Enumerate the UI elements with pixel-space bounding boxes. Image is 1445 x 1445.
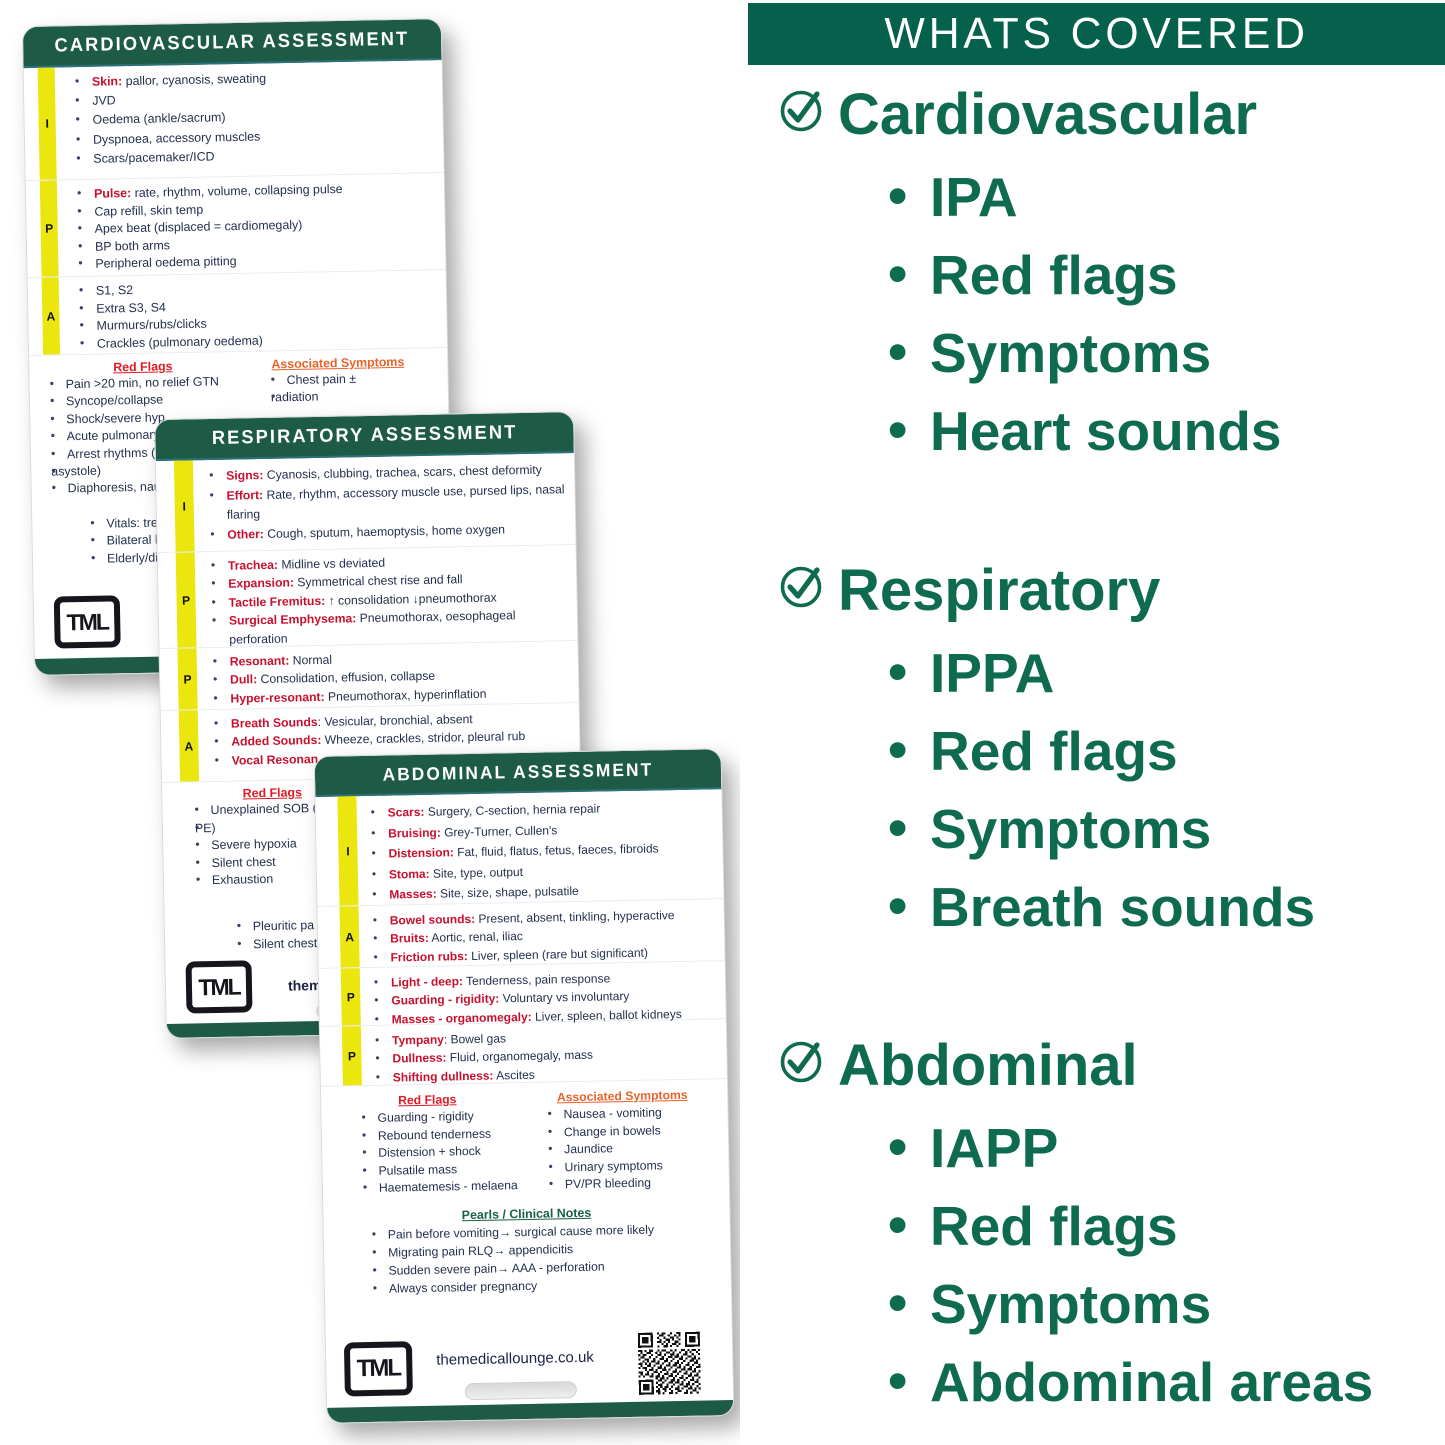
section-row-i: I Skin: pallor, cyanosis, sweating JVD O… — [24, 60, 444, 181]
whats-covered-title: WHATS COVERED — [884, 9, 1308, 59]
list-resp-p1: Trachea: Midline vs deviated Expansion: … — [211, 550, 568, 649]
section-row-p1: P Trachea: Midline vs deviated Expansion… — [158, 545, 578, 649]
group-abdominal-list: IAPP Red flags Symptoms Abdominal areas — [760, 1109, 1445, 1421]
list-item-cont: radiation — [271, 387, 426, 407]
ippa-letter-i: I — [337, 796, 358, 905]
cv-associated-list: Chest pain ± radiation — [250, 369, 426, 407]
list-item: Haematemesis - melaena — [363, 1177, 529, 1198]
section-row-a: A S1, S2 Extra S3, S4 Murmurs/rubs/click… — [28, 270, 447, 356]
cardiovascular-title: CARDIOVASCULAR ASSESSMENT — [55, 29, 410, 58]
group-cardiovascular: Cardiovascular IPA Red flags Symptoms He… — [760, 86, 1445, 470]
abdominal-body: I Scars: Surgery, C-section, hernia repa… — [315, 789, 733, 1423]
ippa-letter-a: A — [42, 277, 60, 354]
list-resp-p2: Resonant: Normal Dull: Consolidation, ef… — [213, 646, 569, 708]
list-item: IPPA — [760, 634, 1445, 712]
list-cv-a: S1, S2 Extra S3, S4 Murmurs/rubs/clicks … — [79, 276, 439, 353]
group-respiratory-label: Respiratory — [838, 562, 1160, 620]
whats-covered-header: WHATS COVERED — [748, 3, 1445, 65]
abdominal-title: ABDOMINAL ASSESSMENT — [382, 759, 653, 785]
group-respiratory-list: IPPA Red flags Symptoms Breath sounds — [760, 634, 1445, 946]
group-abdominal-title-row: Abdominal — [760, 1037, 1445, 1095]
ippa-letter-i: I — [174, 460, 195, 551]
lanyard-slot — [465, 1381, 577, 1400]
group-respiratory: Respiratory IPPA Red flags Symptoms Brea… — [760, 562, 1445, 946]
list-abd-i: Scars: Surgery, C-section, hernia repair… — [371, 796, 716, 906]
list-item: Surgical Emphysema: Pneumothorax, oesoph… — [212, 605, 568, 649]
list-item: Red flags — [760, 712, 1445, 790]
list-item: Effort: Rate, rhythm, accessory muscle u… — [209, 480, 565, 526]
list-item: Red flags — [760, 1187, 1445, 1265]
abd-site-text: themedicallounge.co.uk — [436, 1349, 594, 1369]
list-item: Breath sounds — [760, 868, 1445, 946]
list-item: Red flags — [760, 236, 1445, 314]
list-item: IAPP — [760, 1109, 1445, 1187]
list-item: Abdominal areas — [760, 1343, 1445, 1421]
list-item: Heart sounds — [760, 392, 1445, 470]
abd-pearls-list: Pain before vomiting→ surgical cause mor… — [324, 1219, 731, 1299]
list-item: IPA — [760, 158, 1445, 236]
list-cv-i: Skin: pallor, cyanosis, sweating JVD Oed… — [75, 66, 436, 169]
tml-logo: TML — [186, 960, 253, 1013]
tml-logo-text: TML — [66, 608, 108, 636]
list-abd-p1: Light - deep: Tenderness, pain response … — [374, 967, 718, 1029]
abd-red-flags-list: Guarding - rigidity Rebound tenderness D… — [327, 1107, 529, 1199]
list-item: Symptoms — [760, 790, 1445, 868]
group-abdominal-label: Abdominal — [838, 1037, 1138, 1095]
list-item: Symptoms — [760, 1265, 1445, 1343]
list-resp-i: Signs: Cyanosis, clubbing, trachea, scar… — [209, 460, 565, 545]
abd-associated-title: Associated Symptoms — [527, 1087, 717, 1105]
ippa-letter-a: A — [179, 710, 199, 781]
section-row-p2: P Tympany: Bowel gas Dullness: Fluid, or… — [320, 1019, 727, 1087]
list-cv-p: Pulse: rate, rhythm, volume, collapsing … — [77, 179, 438, 274]
whats-covered-panel: WHATS COVERED Cardiovascular IPA Red fla… — [740, 0, 1445, 1445]
qr-code-icon[interactable] — [638, 1332, 701, 1395]
check-circle-icon — [778, 86, 824, 144]
section-row-p2: P Resonant: Normal Dull: Consolidation, … — [160, 641, 579, 711]
ippa-letter-p: P — [40, 180, 59, 276]
list-item: Symptoms — [760, 314, 1445, 392]
check-circle-icon — [778, 562, 824, 620]
group-respiratory-title-row: Respiratory — [760, 562, 1445, 620]
group-cardiovascular-list: IPA Red flags Symptoms Heart sounds — [760, 158, 1445, 470]
ippa-letter-i: I — [38, 67, 57, 179]
tml-logo-text: TML — [356, 1354, 400, 1383]
tml-logo: TML — [344, 1341, 413, 1396]
ippa-letter-p2: P — [177, 648, 197, 709]
list-item: PV/PR bleeding — [549, 1174, 719, 1195]
list-abd-p2: Tympany: Bowel gas Dullness: Fluid, orga… — [375, 1025, 719, 1087]
ippa-letter-p: P — [341, 968, 361, 1025]
check-circle-icon — [778, 1037, 824, 1095]
section-row-a: A Bowel sounds: Present, absent, tinklin… — [318, 899, 725, 969]
respiratory-title: RESPIRATORY ASSESSMENT — [211, 422, 517, 450]
card-stack: CARDIOVASCULAR ASSESSMENT I Skin: pallor… — [0, 0, 740, 1445]
section-row-i: I Scars: Surgery, C-section, hernia repa… — [315, 789, 723, 907]
ippa-letter-p: P — [176, 552, 197, 647]
group-abdominal: Abdominal IAPP Red flags Symptoms Abdomi… — [760, 1037, 1445, 1421]
abd-red-flags-title: Red Flags — [327, 1091, 527, 1109]
tml-logo: TML — [54, 595, 121, 648]
abd-associated-list: Nausea - vomiting Change in bowels Jaund… — [527, 1103, 719, 1195]
tml-logo-text: TML — [198, 973, 240, 1001]
group-cardiovascular-title-row: Cardiovascular — [760, 86, 1445, 144]
group-cardiovascular-label: Cardiovascular — [838, 86, 1257, 144]
section-row-p1: P Light - deep: Tenderness, pain respons… — [319, 961, 726, 1027]
abdominal-card[interactable]: ABDOMINAL ASSESSMENT I Scars: Surgery, C… — [314, 748, 735, 1424]
qr-code-svg — [638, 1332, 701, 1395]
ippa-letter-a: A — [340, 906, 360, 967]
section-row-p: P Pulse: rate, rhythm, volume, collapsin… — [26, 173, 446, 278]
ippa-letter-p2: P — [342, 1026, 362, 1085]
section-row-i: I Signs: Cyanosis, clubbing, trachea, sc… — [156, 453, 576, 553]
list-abd-a: Bowel sounds: Present, absent, tinkling,… — [373, 905, 717, 967]
